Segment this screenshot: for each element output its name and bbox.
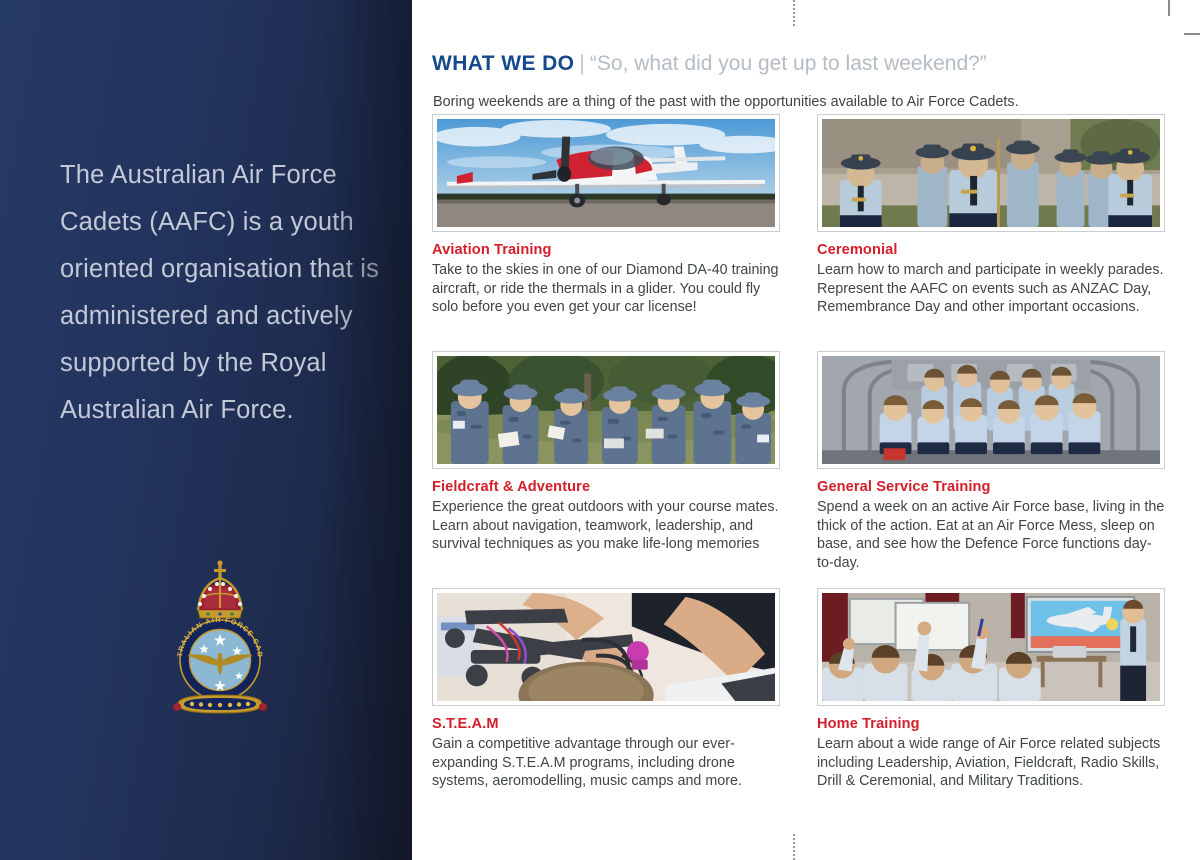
scroll-banner [173, 695, 267, 713]
brochure-page: The Australian Air Force Cadets (AAFC) i… [0, 0, 1200, 860]
cards-row: S.T.E.A.M Gain a competitive advantage t… [432, 588, 1172, 825]
card-ceremonial[interactable]: Ceremonial Learn how to march and partic… [817, 114, 1165, 317]
photo-home-training-classroom-presentation [822, 593, 1160, 701]
crop-mark-top-right-horizontal [1184, 33, 1200, 35]
card-title: Fieldcraft & Adventure [432, 478, 780, 496]
photo-frame [432, 114, 780, 232]
card-title: Home Training [817, 715, 1165, 733]
cards-grid: Aviation Training Take to the skies in o… [432, 114, 1172, 825]
photo-general-service-training-cadets-in-aircraft-hold [822, 356, 1160, 464]
photo-aviation-training-diamond-da40-aircraft [437, 119, 775, 227]
photo-ceremonial-cadets-marching-parade [822, 119, 1160, 227]
headline-divider: | [574, 52, 589, 75]
photo-frame [817, 588, 1165, 706]
section-subhead: Boring weekends are a thing of the past … [433, 92, 1019, 112]
cards-row: Fieldcraft & Adventure Experience the gr… [432, 351, 1172, 588]
photo-frame [817, 114, 1165, 232]
aafc-crest-logo: AUSTRALIAN AIR FORCE CADETS [160, 552, 280, 732]
card-fieldcraft-adventure[interactable]: Fieldcraft & Adventure Experience the gr… [432, 351, 780, 554]
intro-paragraph: The Australian Air Force Cadets (AAFC) i… [60, 152, 380, 434]
card-general-service-training[interactable]: General Service Training Spend a week on… [817, 351, 1165, 572]
photo-steam-drone-assembly-workshop [437, 593, 775, 701]
section-headline: WHAT WE DO|“So, what did you get up to l… [432, 52, 987, 76]
card-body: Experience the great outdoors with your … [432, 498, 780, 554]
card-body: Gain a competitive advantage through our… [432, 735, 780, 791]
card-title: Aviation Training [432, 241, 780, 259]
headline-quote: “So, what did you get up to last weekend… [590, 52, 987, 75]
card-body: Spend a week on an active Air Force base… [817, 498, 1165, 572]
main-content: WHAT WE DO|“So, what did you get up to l… [432, 0, 1172, 860]
photo-fieldcraft-cadets-outdoors-camouflage [437, 356, 775, 464]
photo-frame [432, 588, 780, 706]
card-body: Learn how to march and participate in we… [817, 261, 1165, 317]
card-title: General Service Training [817, 478, 1165, 496]
photo-frame [432, 351, 780, 469]
photo-frame [817, 351, 1165, 469]
headline-title: WHAT WE DO [432, 52, 574, 75]
left-intro-panel: The Australian Air Force Cadets (AAFC) i… [0, 0, 412, 860]
card-steam[interactable]: S.T.E.A.M Gain a competitive advantage t… [432, 588, 780, 791]
card-title: Ceremonial [817, 241, 1165, 259]
cards-row: Aviation Training Take to the skies in o… [432, 114, 1172, 351]
card-body: Take to the skies in one of our Diamond … [432, 261, 780, 317]
card-title: S.T.E.A.M [432, 715, 780, 733]
card-home-training[interactable]: Home Training Learn about a wide range o… [817, 588, 1165, 791]
card-body: Learn about a wide range of Air Force re… [817, 735, 1165, 791]
card-aviation-training[interactable]: Aviation Training Take to the skies in o… [432, 114, 780, 317]
crown-icon [198, 560, 242, 618]
